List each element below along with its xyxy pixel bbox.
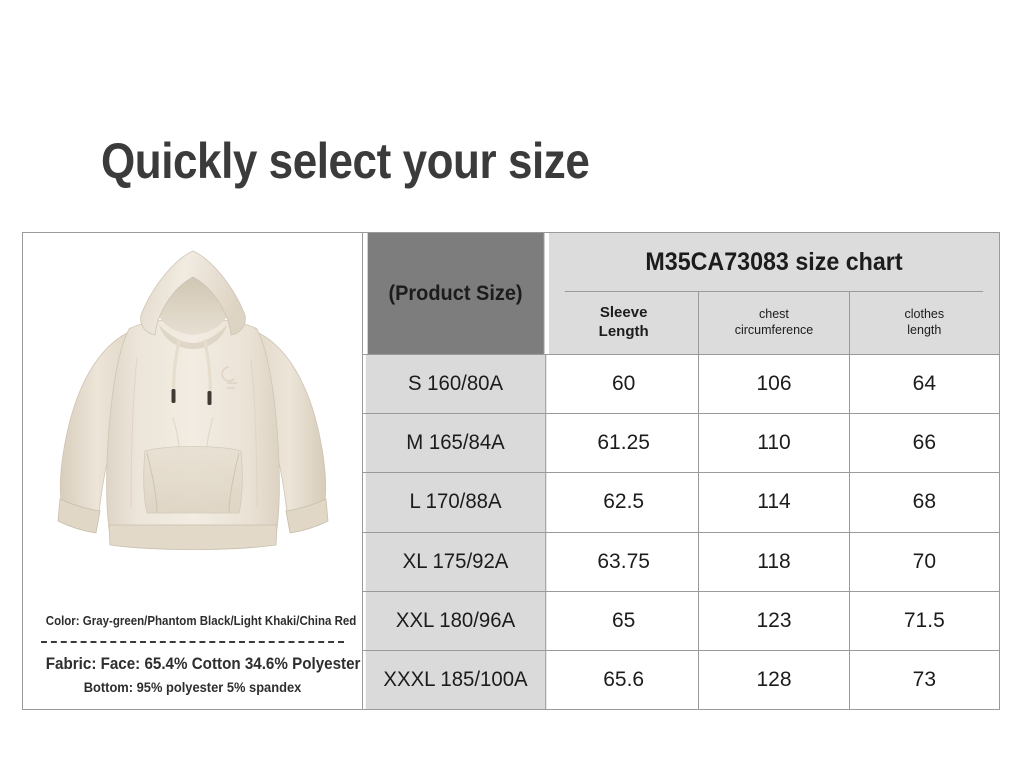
size-label: M 165/84A bbox=[366, 414, 546, 472]
table-row: XXXL 185/100A 65.6 128 73 bbox=[363, 650, 999, 709]
fabric-face-text: Fabric: Face: 65.4% Cotton 34.6% Polyest… bbox=[46, 655, 339, 674]
cell-clothes-length: 71.5 bbox=[850, 592, 999, 650]
column-header-sleeve-length: Sleeve Length bbox=[549, 292, 699, 354]
row-values: 63.75 118 70 bbox=[549, 533, 999, 591]
column-header-chest-circumference: chest circumference bbox=[699, 292, 849, 354]
cell-chest-circumference: 110 bbox=[699, 414, 849, 472]
product-size-header: (Product Size) bbox=[368, 233, 545, 354]
chart-panel: (Product Size) M35CA73083 size chart Sle… bbox=[363, 233, 999, 709]
cell-sleeve-length: 62.5 bbox=[549, 473, 699, 531]
size-label: XXL 180/96A bbox=[366, 592, 546, 650]
size-label: S 160/80A bbox=[366, 355, 546, 413]
fabric-bottom-text: Bottom: 95% polyester 5% spandex bbox=[46, 679, 339, 695]
cell-sleeve-length: 65 bbox=[549, 592, 699, 650]
cell-clothes-length: 73 bbox=[850, 651, 999, 709]
cell-clothes-length: 70 bbox=[850, 533, 999, 591]
row-values: 62.5 114 68 bbox=[549, 473, 999, 531]
cell-clothes-length: 64 bbox=[850, 355, 999, 413]
chart-header: (Product Size) M35CA73083 size chart Sle… bbox=[363, 233, 999, 354]
column-header-clothes-length: clothes length bbox=[850, 292, 999, 354]
table-row: XL 175/92A 63.75 118 70 bbox=[363, 532, 999, 591]
cell-sleeve-length: 60 bbox=[549, 355, 699, 413]
row-values: 60 106 64 bbox=[549, 355, 999, 413]
cell-chest-circumference: 128 bbox=[699, 651, 849, 709]
size-label: XL 175/92A bbox=[366, 533, 546, 591]
cell-chest-circumference: 118 bbox=[699, 533, 849, 591]
chart-body: S 160/80A 60 106 64 M 165/84A 61.25 110 … bbox=[363, 354, 999, 709]
cell-chest-circumference: 106 bbox=[699, 355, 849, 413]
cell-clothes-length: 66 bbox=[850, 414, 999, 472]
cell-sleeve-length: 63.75 bbox=[549, 533, 699, 591]
cell-sleeve-length: 61.25 bbox=[549, 414, 699, 472]
product-info: Color: Gray-green/Phantom Black/Light Kh… bbox=[23, 614, 362, 709]
row-values: 65 123 71.5 bbox=[549, 592, 999, 650]
size-label: L 170/88A bbox=[366, 473, 546, 531]
metrics-header: M35CA73083 size chart Sleeve Length ches… bbox=[549, 233, 999, 354]
size-label: XXXL 185/100A bbox=[366, 651, 546, 709]
cell-sleeve-length: 65.6 bbox=[549, 651, 699, 709]
info-divider bbox=[41, 641, 344, 643]
cell-chest-circumference: 114 bbox=[699, 473, 849, 531]
size-chart-table: Color: Gray-green/Phantom Black/Light Kh… bbox=[22, 232, 1000, 710]
cell-clothes-length: 68 bbox=[850, 473, 999, 531]
page-title: Quickly select your size bbox=[101, 136, 589, 186]
metric-column-headers: Sleeve Length chest circumference clothe… bbox=[549, 292, 999, 354]
cell-chest-circumference: 123 bbox=[699, 592, 849, 650]
row-values: 61.25 110 66 bbox=[549, 414, 999, 472]
chart-name-title: M35CA73083 size chart bbox=[565, 233, 984, 292]
color-options-text: Color: Gray-green/Phantom Black/Light Kh… bbox=[46, 614, 339, 628]
row-values: 65.6 128 73 bbox=[549, 651, 999, 709]
hoodie-illustration bbox=[33, 237, 353, 567]
table-row: L 170/88A 62.5 114 68 bbox=[363, 472, 999, 531]
product-image bbox=[23, 233, 362, 614]
table-row: S 160/80A 60 106 64 bbox=[363, 354, 999, 413]
table-row: M 165/84A 61.25 110 66 bbox=[363, 413, 999, 472]
table-row: XXL 180/96A 65 123 71.5 bbox=[363, 591, 999, 650]
product-panel: Color: Gray-green/Phantom Black/Light Kh… bbox=[23, 233, 363, 709]
